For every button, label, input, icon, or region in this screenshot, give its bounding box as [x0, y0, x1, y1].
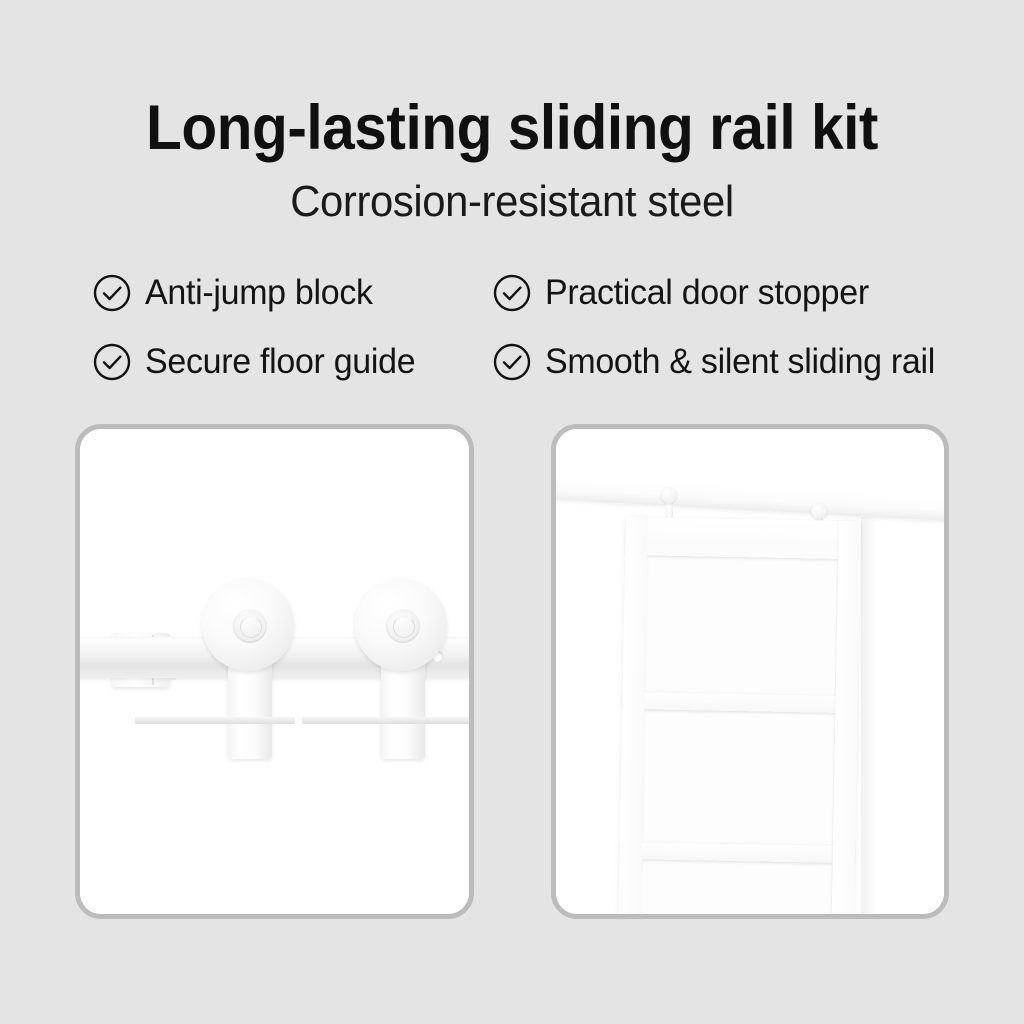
roller-wheel-right: [355, 579, 447, 769]
barn-door-panel: [618, 517, 861, 919]
feature-item-anti-jump-block: Anti-jump block: [92, 273, 492, 313]
door-recess-middle: [642, 709, 835, 845]
ceiling-track: [551, 477, 949, 522]
bolt-head: [811, 503, 827, 519]
floor-guide-right: [302, 717, 470, 724]
feature-label: Practical door stopper: [545, 273, 869, 313]
feature-item-smooth-silent-sliding-rail: Smooth & silent sliding rail: [492, 342, 952, 382]
check-circle-icon: [92, 342, 132, 382]
wheel-hub: [233, 609, 267, 643]
roller-wheel-left: [202, 579, 294, 769]
photo-stage: [80, 429, 469, 914]
infographic-root: Long-lasting sliding rail kit Corrosion-…: [0, 0, 1024, 1024]
feature-item-secure-floor-guide: Secure floor guide: [92, 342, 492, 382]
feature-list: Anti-jump block Practical door stopper S…: [92, 258, 952, 396]
wheel-hub: [386, 609, 420, 643]
feature-label: Smooth & silent sliding rail: [545, 342, 935, 382]
door-recess-lower: [640, 859, 832, 919]
check-circle-icon: [492, 273, 532, 313]
check-circle-icon: [92, 273, 132, 313]
installed-door-photo: [551, 424, 949, 919]
feature-item-practical-door-stopper: Practical door stopper: [492, 273, 952, 313]
page-subtitle: Corrosion-resistant steel: [26, 174, 999, 230]
floor-guide-left: [135, 717, 295, 724]
door-edge-shadow: [861, 517, 877, 919]
feature-label: Anti-jump block: [145, 273, 373, 313]
check-circle-icon: [492, 342, 532, 382]
feature-label: Secure floor guide: [145, 342, 415, 382]
page-title: Long-lasting sliding rail kit: [36, 92, 988, 164]
photo-stage: [556, 429, 944, 914]
door-recess-upper: [645, 555, 838, 695]
rail-hardware-photo: [75, 424, 474, 919]
bolt-head: [661, 487, 677, 503]
door-top-rail: [625, 517, 861, 559]
